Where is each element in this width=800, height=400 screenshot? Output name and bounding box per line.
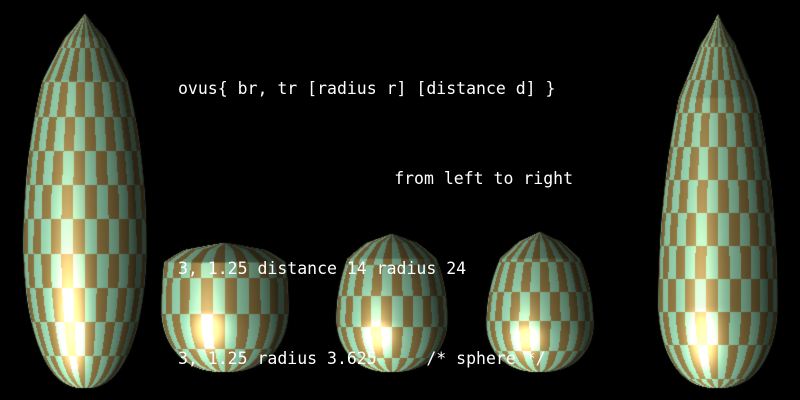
direction-note: from left to right [178,164,573,194]
caption-block: ovus{ br, tr [radius r] [distance d] } f… [178,14,578,400]
povray-render-scene: ovus{ br, tr [radius r] [distance d] } f… [0,0,800,400]
ovus-syntax-line: ovus{ br, tr [radius r] [distance d] } [178,74,578,104]
ovus-variant-line-2: 3, 1.25 radius 3.625 /* sphere */ [178,344,578,374]
ovus-variant-line-1: 3, 1.25 distance 14 radius 24 [178,254,578,284]
